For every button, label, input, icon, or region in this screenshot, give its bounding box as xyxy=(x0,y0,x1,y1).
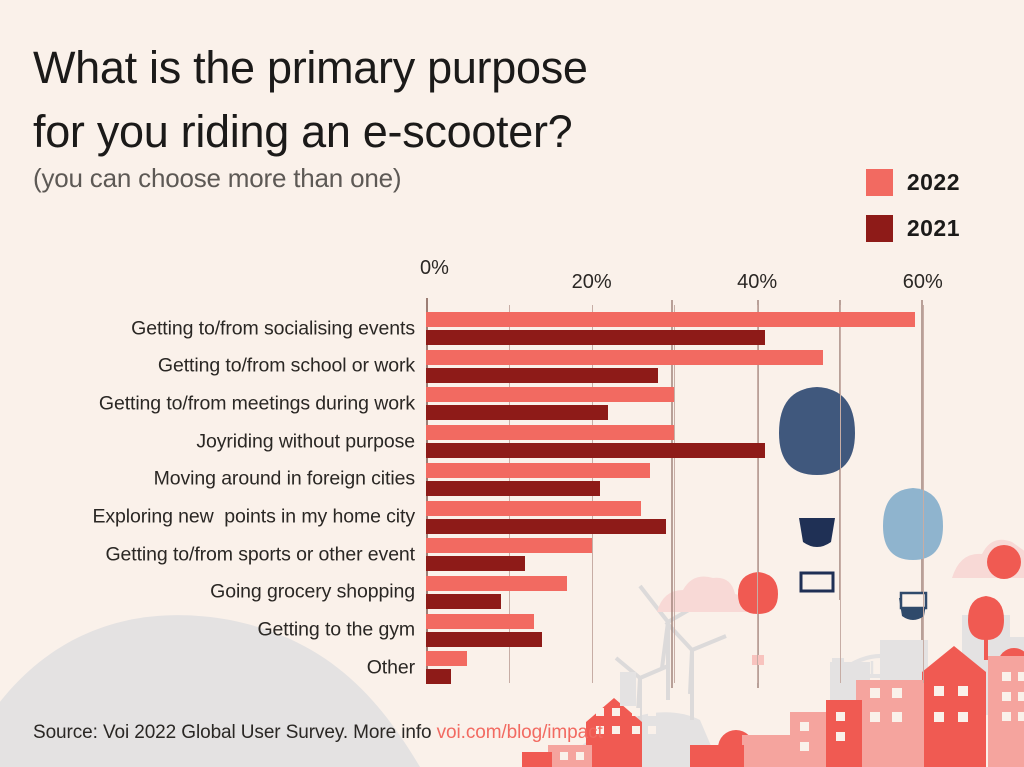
bar-2021[interactable] xyxy=(426,594,501,609)
bar-2022[interactable] xyxy=(426,312,915,327)
category-label: Going grocery shopping xyxy=(210,581,415,604)
category-label: Exploring new points in my home city xyxy=(92,506,415,529)
bar-2021[interactable] xyxy=(426,443,765,458)
bar-2022[interactable] xyxy=(426,425,674,440)
bar-2021[interactable] xyxy=(426,330,765,345)
legend-label-2021: 2021 xyxy=(907,215,960,242)
bar-2022[interactable] xyxy=(426,614,534,629)
x-tick-label-20%: 20% xyxy=(572,271,612,294)
bar-2022[interactable] xyxy=(426,501,641,516)
bar-2022[interactable] xyxy=(426,538,592,553)
legend-item-2022[interactable]: 2022 xyxy=(866,165,960,199)
bar-2021[interactable] xyxy=(426,405,608,420)
bar-2022[interactable] xyxy=(426,651,467,666)
source-note: Source: Voi 2022 Global User Survey. Mor… xyxy=(33,722,603,744)
bar-2022[interactable] xyxy=(426,576,567,591)
bar-2021[interactable] xyxy=(426,632,542,647)
bar-2022[interactable] xyxy=(426,463,650,478)
page-title: What is the primary purpose for you ridi… xyxy=(33,36,588,164)
source-link[interactable]: voi.com/blog/impact xyxy=(437,722,603,743)
bar-2022[interactable] xyxy=(426,350,823,365)
x-tick-label-40%: 40% xyxy=(737,271,777,294)
category-label: Getting to/from sports or other event xyxy=(105,543,415,566)
legend-item-2021[interactable]: 2021 xyxy=(866,211,960,245)
category-label: Moving around in foreign cities xyxy=(154,468,415,491)
category-label: Getting to/from socialising events xyxy=(131,317,415,340)
gridline-60 xyxy=(923,305,924,683)
category-label: Getting to/from school or work xyxy=(158,355,415,378)
chart-canvas: What is the primary purpose for you ridi… xyxy=(0,0,1024,767)
category-label: Other xyxy=(367,656,415,679)
source-text: Source: Voi 2022 Global User Survey. Mor… xyxy=(33,722,437,743)
category-label: Getting to/from meetings during work xyxy=(99,392,415,415)
category-label: Joyriding without purpose xyxy=(196,430,415,453)
bar-2022[interactable] xyxy=(426,387,674,402)
category-label: Getting to the gym xyxy=(257,619,415,642)
x-tick-label-60%: 60% xyxy=(903,271,943,294)
legend-swatch-2021 xyxy=(866,215,893,242)
bar-2021[interactable] xyxy=(426,669,451,684)
gridline-50 xyxy=(840,305,841,683)
page-subtitle: (you can choose more than one) xyxy=(33,163,401,194)
bar-2021[interactable] xyxy=(426,481,600,496)
plot-area: 0%20%40%60% xyxy=(426,305,966,683)
bar-2021[interactable] xyxy=(426,368,658,383)
legend-label-2022: 2022 xyxy=(907,169,960,196)
bar-2021[interactable] xyxy=(426,556,525,571)
x-tick-label-0%: 0% xyxy=(420,257,449,280)
chart-legend: 2022 2021 xyxy=(866,165,960,257)
legend-swatch-2022 xyxy=(866,169,893,196)
bar-2021[interactable] xyxy=(426,519,666,534)
